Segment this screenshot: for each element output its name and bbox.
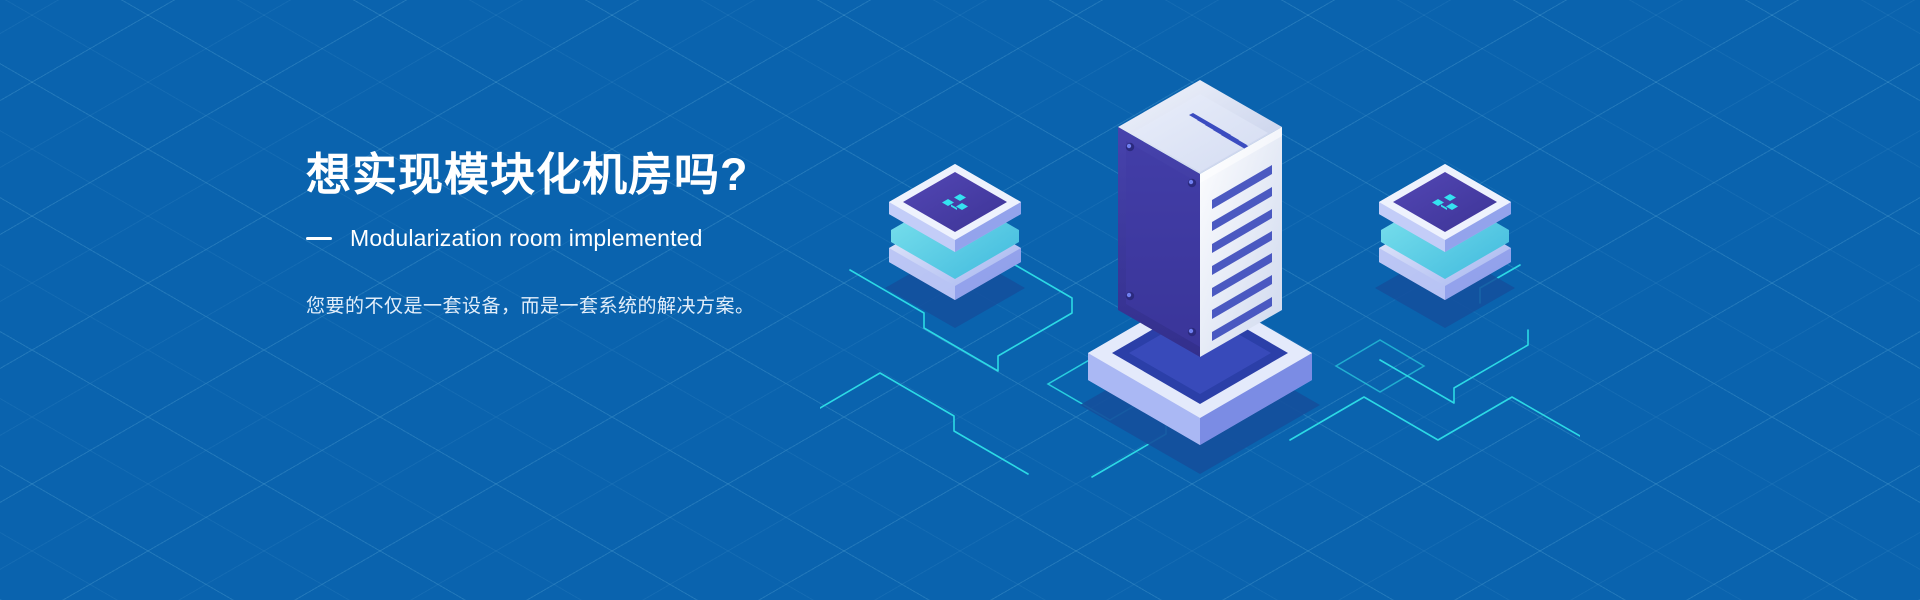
dash-icon — [306, 237, 332, 240]
chip-module-right — [1375, 164, 1515, 328]
page-subtitle: Modularization room implemented — [350, 225, 703, 252]
isometric-datacenter-illustration — [820, 60, 1580, 500]
server-rack — [1118, 80, 1282, 357]
hero-banner: 想实现模块化机房吗? Modularization room implement… — [0, 0, 1920, 600]
